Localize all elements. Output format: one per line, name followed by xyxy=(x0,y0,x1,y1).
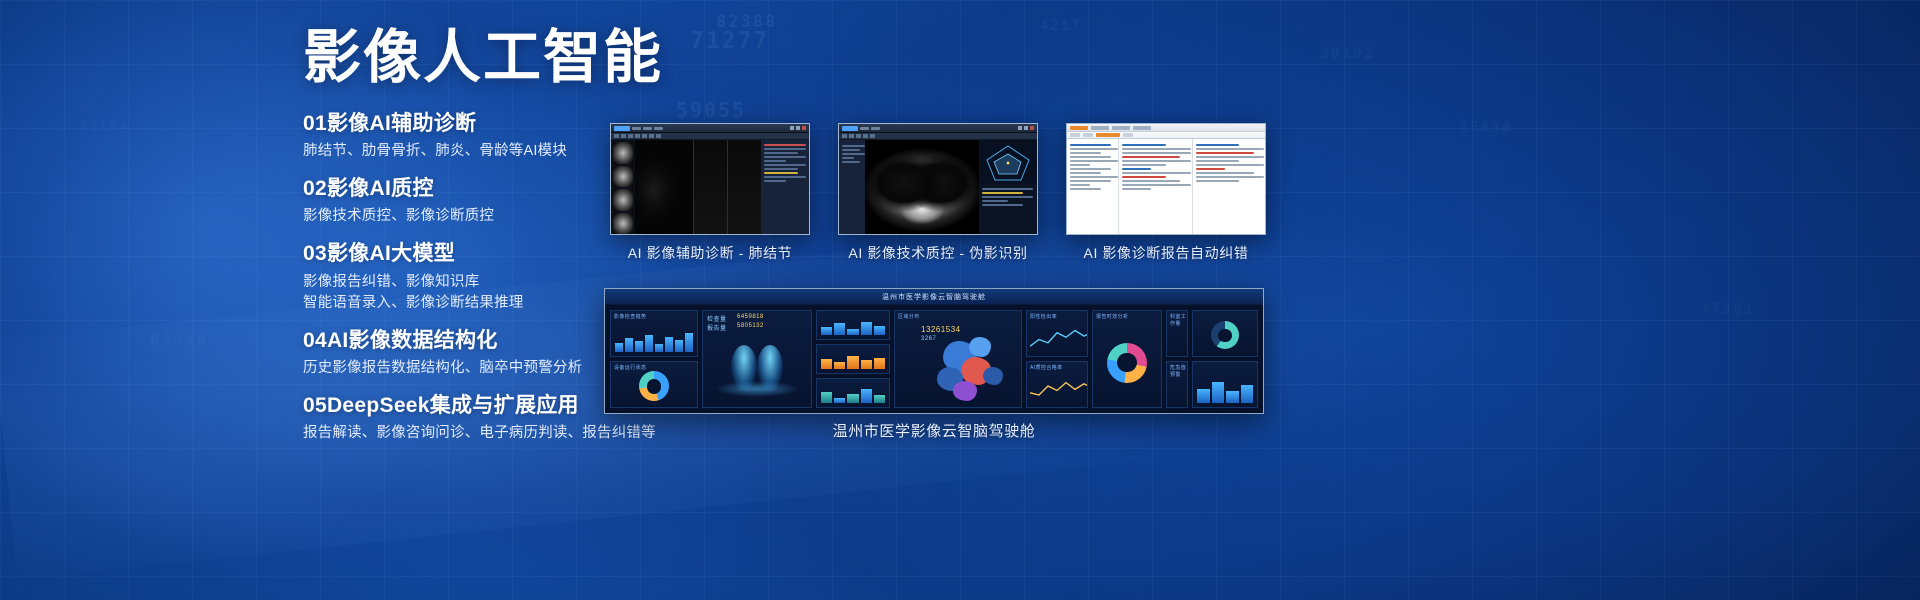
background-vignette xyxy=(0,0,1920,600)
banner-root: 82388 71277 59055 26725 4217 30192 15830… xyxy=(0,0,1920,600)
